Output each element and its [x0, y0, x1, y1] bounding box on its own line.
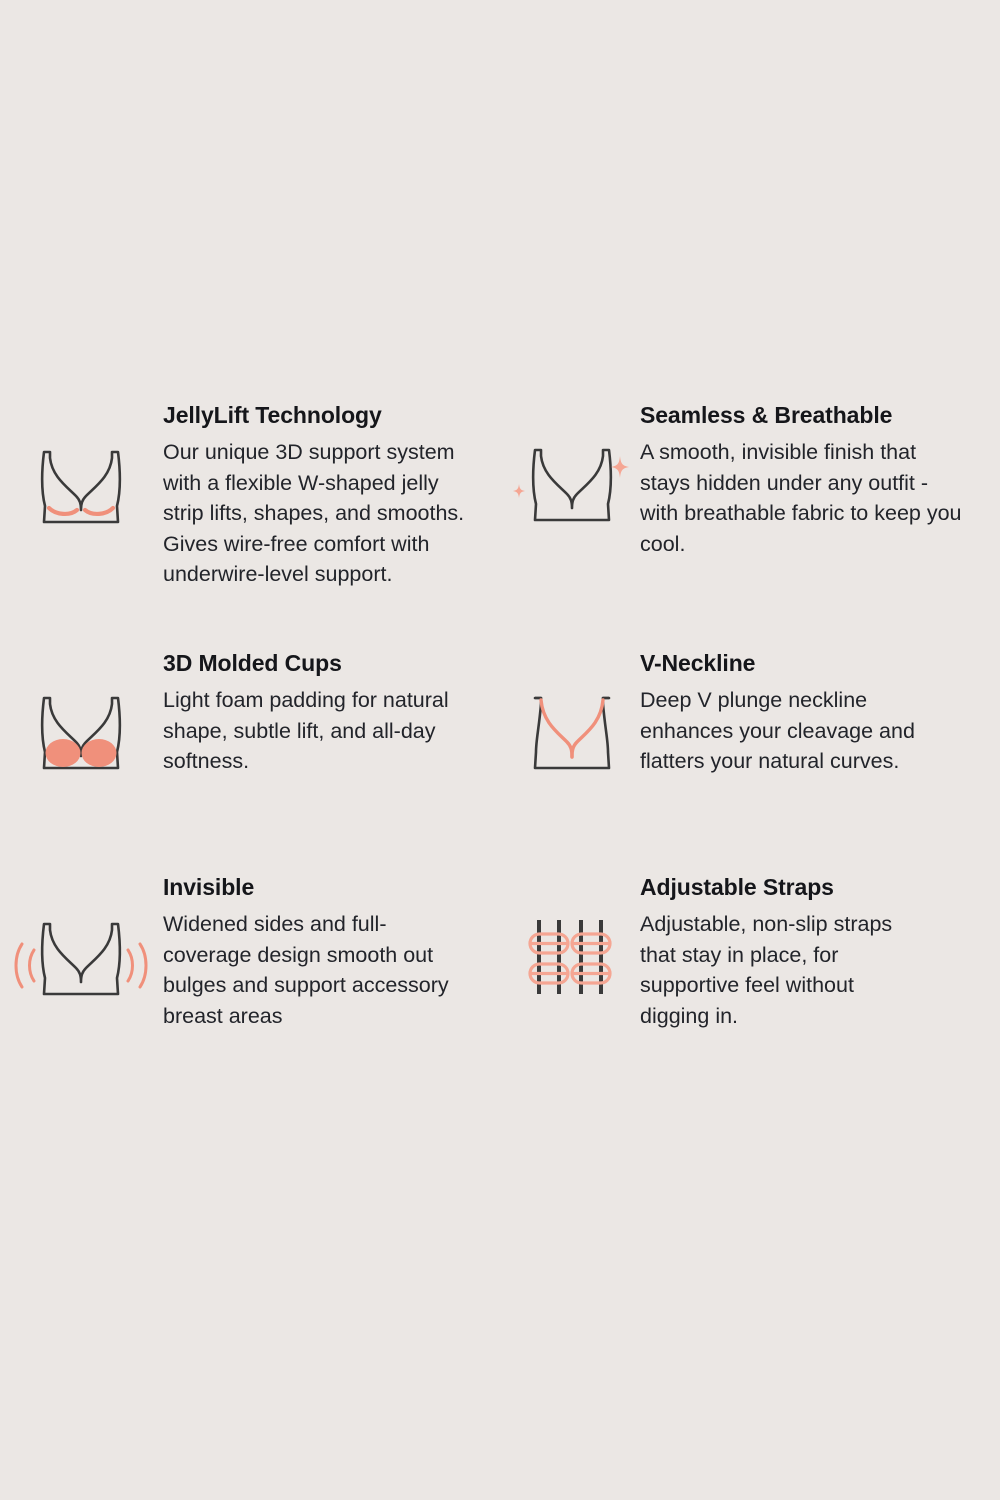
- bra-molded-cups-icon: [0, 652, 163, 778]
- feature-title: JellyLift Technology: [163, 404, 500, 427]
- bra-jelly-strip-icon: [0, 404, 163, 532]
- feature-grid: JellyLift Technology Our unique 3D suppo…: [0, 404, 1000, 1056]
- feature-title: Seamless & Breathable: [640, 404, 1000, 427]
- product-features-board: JellyLift Technology Our unique 3D suppo…: [0, 0, 1000, 1500]
- feature-text-block: 3D Molded Cups Light foam padding for na…: [163, 652, 500, 777]
- feature-text-block: Invisible Widened sides and full-coverag…: [163, 876, 500, 1031]
- feature-description: A smooth, invisible finish that stays hi…: [640, 437, 968, 559]
- feature-card-v-neckline: V-Neckline Deep V plunge neckline enhanc…: [500, 652, 1000, 876]
- feature-card-adjustable-straps: Adjustable Straps Adjustable, non-slip s…: [500, 876, 1000, 1056]
- feature-description: Adjustable, non-slip straps that stay in…: [640, 909, 925, 1031]
- feature-card-invisible: Invisible Widened sides and full-coverag…: [0, 876, 500, 1056]
- feature-title: Adjustable Straps: [640, 876, 1000, 899]
- feature-card-3d-molded-cups: 3D Molded Cups Light foam padding for na…: [0, 652, 500, 876]
- feature-card-jellylift-technology: JellyLift Technology Our unique 3D suppo…: [0, 404, 500, 652]
- feature-text-block: JellyLift Technology Our unique 3D suppo…: [163, 404, 500, 590]
- feature-description: Deep V plunge neckline enhances your cle…: [640, 685, 925, 777]
- feature-row: JellyLift Technology Our unique 3D suppo…: [0, 404, 1000, 652]
- feature-text-block: Adjustable Straps Adjustable, non-slip s…: [640, 876, 1000, 1031]
- adjustable-straps-icon: [500, 876, 640, 1002]
- bra-invisible-waves-icon: [0, 876, 163, 1004]
- feature-text-block: Seamless & Breathable A smooth, invisibl…: [640, 404, 1000, 559]
- feature-row: 3D Molded Cups Light foam padding for na…: [0, 652, 1000, 876]
- feature-description: Widened sides and full-coverage design s…: [163, 909, 463, 1031]
- feature-card-seamless-breathable: Seamless & Breathable A smooth, invisibl…: [500, 404, 1000, 652]
- bra-sparkle-icon: [500, 404, 640, 530]
- feature-row: Invisible Widened sides and full-coverag…: [0, 876, 1000, 1056]
- bra-v-neckline-icon: [500, 652, 640, 778]
- feature-title: V-Neckline: [640, 652, 1000, 675]
- feature-text-block: V-Neckline Deep V plunge neckline enhanc…: [640, 652, 1000, 777]
- feature-description: Light foam padding for natural shape, su…: [163, 685, 463, 777]
- feature-description: Our unique 3D support system with a flex…: [163, 437, 483, 590]
- feature-title: 3D Molded Cups: [163, 652, 500, 675]
- feature-title: Invisible: [163, 876, 500, 899]
